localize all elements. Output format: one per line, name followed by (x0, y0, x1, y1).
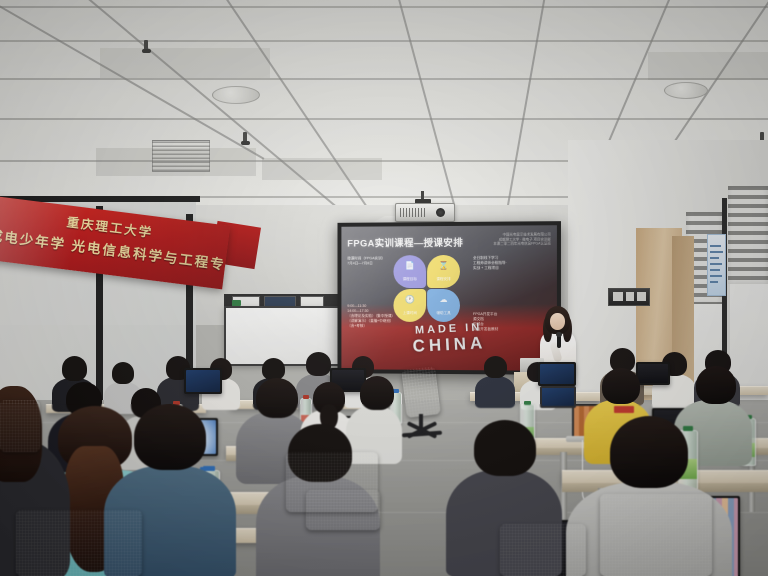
classroom-photo-scene: 重庆理工大学 成电少年学 光电信息科学与工程专业FPGA认证实训 FPGA实训课… (0, 0, 768, 576)
slide-petal-course-plan: ⌛ 课程安排 (427, 255, 460, 288)
slide-corporate-note: 中国光电显示技术发展有限公司 成都理工大学 · 微电子 项目实训部 本课二零二四… (464, 232, 551, 246)
window-blind[interactable] (728, 186, 768, 284)
ceiling-projector (395, 203, 455, 222)
office-chair-back[interactable] (16, 510, 142, 576)
desktop-monitor[interactable] (184, 368, 222, 394)
petal-label: 上课时间 (393, 311, 426, 316)
ceiling-speaker-icon (664, 82, 708, 99)
whiteboard-marker-clip[interactable] (232, 300, 241, 306)
hourglass-icon: ⌛ (439, 262, 449, 270)
cloud-icon: ☁ (440, 296, 448, 304)
air-vent-grille (152, 140, 210, 172)
desktop-monitor[interactable] (636, 362, 670, 385)
ceiling-speaker-icon (212, 86, 260, 104)
office-chair-back[interactable] (0, 400, 40, 452)
petal-label: 课程安排 (427, 277, 460, 282)
microphone-icon (557, 335, 561, 348)
wall-control-panel[interactable] (608, 288, 650, 306)
office-chair-back[interactable] (306, 490, 380, 530)
projector-lens-icon (436, 208, 445, 217)
petal-label: 辅助工具 (427, 311, 460, 316)
slide-title: FPGA实训课程—授课安排 (347, 235, 463, 250)
slide-petal-course-goal: 📄 课程目标 (393, 255, 426, 288)
presentation-slide: FPGA实训课程—授课安排 中国光电显示技术发展有限公司 成都理工大学 · 微电… (341, 225, 556, 371)
lecturer-face (550, 313, 565, 330)
document-icon: 📄 (405, 262, 415, 270)
office-chair-back[interactable] (500, 524, 586, 576)
slide-text-top-right: 全日制线下学习 工程师讲师全程指导· 实战 + 工程项目 (473, 256, 525, 271)
sprinkler-head-icon (144, 40, 148, 52)
slide-petal-tools: ☁ 辅助工具 (427, 289, 460, 322)
slide-text-top-left: 授课时间（FPGA实训） 7月4日—7月8日 (347, 256, 392, 266)
student-laptop[interactable] (540, 386, 576, 408)
wall-information-poster (707, 234, 726, 296)
office-chair-back[interactable] (600, 494, 712, 576)
slide-petal-class-time: 🕐 上课时间 (393, 289, 426, 322)
shirt-logo (614, 406, 634, 413)
desktop-monitor[interactable] (538, 362, 576, 386)
clock-icon: 🕐 (405, 296, 415, 304)
sprinkler-head-icon (243, 132, 247, 144)
petal-label: 课程目标 (393, 277, 426, 282)
projection-screen: FPGA实训课程—授课安排 中国光电显示技术发展有限公司 成都理工大学 · 微电… (338, 221, 561, 375)
